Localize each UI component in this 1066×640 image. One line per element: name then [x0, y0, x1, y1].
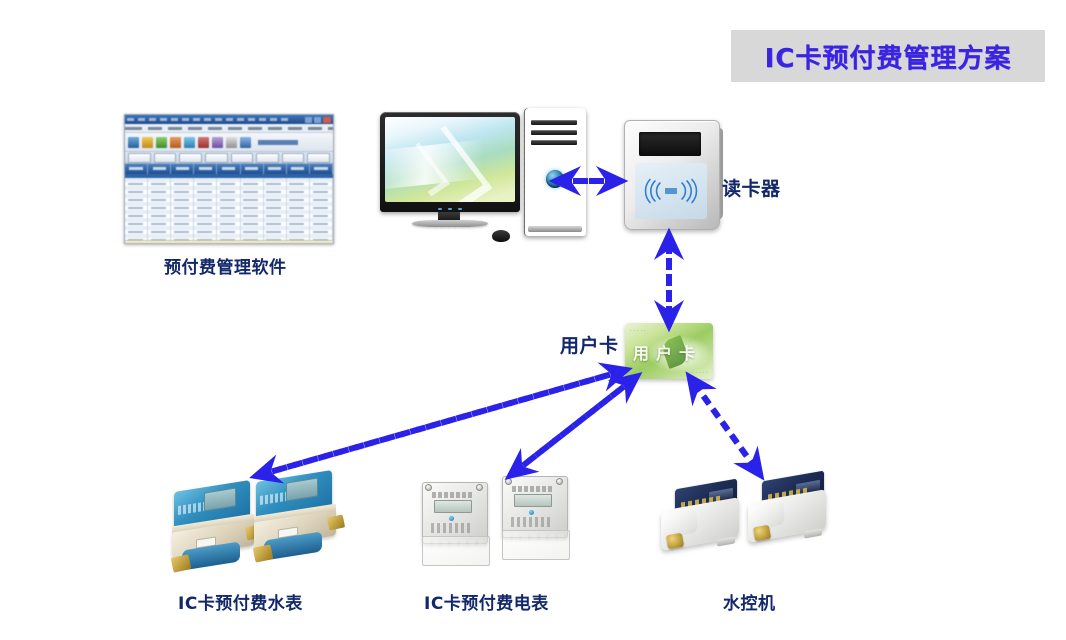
- toolbar-icon-7: [212, 137, 223, 148]
- software-title-text: [127, 118, 289, 121]
- computer-tower: [524, 108, 586, 236]
- water-controller-brass-fitting: [753, 525, 771, 542]
- water-meter-brass-fitting-right: [327, 514, 345, 530]
- card-top-print: · · · · ·: [630, 328, 646, 333]
- user-card-face-text: 用户卡: [633, 340, 702, 364]
- electric-meter-terminal-cover: [422, 536, 490, 566]
- toolbar-icon-2: [142, 137, 153, 148]
- arrow-water-controller-to-card: [694, 383, 756, 469]
- arrow-card-to-electric-meter: [516, 381, 631, 471]
- electric-meter-spec-text: [431, 523, 473, 533]
- water-meter-brass-fitting-left: [253, 544, 274, 562]
- window-controls: [305, 117, 331, 123]
- software-titlebar: [125, 115, 333, 124]
- software-table-header: [125, 164, 333, 174]
- water-controller-foot: [717, 536, 735, 546]
- title-banner: IC卡预付费管理方案: [731, 30, 1045, 82]
- table-column: [264, 174, 287, 240]
- electric-meter-terminal-cover: [502, 530, 570, 560]
- column-header: [125, 164, 148, 174]
- led: [438, 208, 442, 210]
- power-button-icon: [546, 170, 564, 188]
- software-label: 预付费管理软件: [164, 253, 287, 278]
- pulse-led-icon: [449, 516, 454, 521]
- filter-button-2: [154, 153, 177, 163]
- electric-meter-1: [418, 478, 496, 570]
- mount-screw: [556, 478, 563, 485]
- selected-table-row: [125, 174, 333, 178]
- keyboard: [356, 227, 486, 241]
- electric-meter-label: IC卡预付费电表: [424, 589, 549, 614]
- filter-button-5: [231, 153, 254, 163]
- drive-bay: [531, 130, 577, 135]
- arrow-electric-meter-to-card: [516, 381, 631, 471]
- column-header: [264, 164, 287, 174]
- table-column: [287, 174, 310, 240]
- filter-button-7: [282, 153, 305, 163]
- card-reader-device: [624, 120, 720, 230]
- user-card-device: · · · · · 用户卡 · · · · · · ·: [625, 323, 713, 379]
- water-controller-2: [742, 474, 834, 554]
- column-header: [148, 164, 171, 174]
- table-column: [125, 174, 148, 240]
- electric-meter-brand-mark: [432, 492, 472, 498]
- filter-button-8: [307, 153, 330, 163]
- desktop-computer: [352, 108, 602, 248]
- led: [458, 208, 462, 210]
- column-header: [241, 164, 264, 174]
- table-column: [194, 174, 217, 240]
- panel-seam: [530, 152, 578, 153]
- mount-screw: [505, 478, 512, 485]
- card-reader-label: 读卡器: [722, 174, 781, 201]
- table-column: [171, 174, 194, 240]
- water-controller-brass-fitting: [666, 533, 684, 550]
- toolbar-icon-4: [170, 137, 181, 148]
- software-filter-bar: [125, 152, 333, 164]
- water-controller-label: 水控机: [723, 589, 776, 614]
- toolbar-icon-9: [240, 137, 251, 148]
- software-toolbar: [125, 133, 333, 152]
- water-controller-foot: [804, 528, 822, 538]
- electric-meter-display: [434, 500, 472, 513]
- page-title: IC卡预付费管理方案: [765, 38, 1012, 75]
- filter-button-3: [179, 153, 202, 163]
- card-reader-touch-panel: [635, 163, 707, 219]
- toolbar-icon-5: [184, 137, 195, 148]
- table-column: [241, 174, 264, 240]
- column-header: [310, 164, 333, 174]
- electric-meter-display: [514, 494, 552, 507]
- filter-button-4: [205, 153, 228, 163]
- table-column: [310, 174, 333, 240]
- software-table-body: [125, 174, 333, 240]
- software-menubar: [125, 124, 333, 133]
- filter-button-6: [256, 153, 279, 163]
- water-controller-1: [655, 482, 747, 562]
- column-header: [194, 164, 217, 174]
- water-meter-label: IC卡预付费水表: [178, 589, 303, 614]
- arrow-water-meter-to-card: [263, 372, 619, 474]
- pulse-led-icon: [529, 510, 534, 515]
- toolbar-icon-8: [226, 137, 237, 148]
- arrow-card-to-water-controller: [694, 383, 756, 469]
- drive-bay: [531, 140, 577, 145]
- rfid-wave-icon: [638, 178, 704, 204]
- monitor-indicator-leds: [438, 208, 462, 210]
- water-meter-2: [250, 470, 350, 566]
- electric-meter-brand-mark: [512, 486, 552, 492]
- filter-button-1: [128, 153, 151, 163]
- toolbar-icon-1: [128, 137, 139, 148]
- table-column: [217, 174, 240, 240]
- led: [448, 208, 452, 210]
- arrow-card-to-water-meter: [263, 372, 619, 474]
- monitor-stand-base: [412, 220, 488, 227]
- monitor: [380, 112, 520, 212]
- toolbar-icon-3: [156, 137, 167, 148]
- mouse: [492, 230, 510, 242]
- water-meter-brass-fitting-left: [171, 554, 192, 572]
- toolbar-icon-6: [198, 137, 209, 148]
- column-header: [217, 164, 240, 174]
- electric-meter-spec-text: [511, 517, 553, 527]
- electric-meter-2: [498, 472, 576, 564]
- drive-bay: [531, 120, 577, 125]
- column-header: [171, 164, 194, 174]
- user-card-label: 用户卡: [560, 331, 619, 358]
- toolbar-status-text: [258, 140, 298, 145]
- mount-screw: [425, 484, 432, 491]
- tower-base: [528, 226, 582, 232]
- card-reader-display: [639, 132, 701, 156]
- card-reader-body: [624, 120, 720, 230]
- table-columns: [125, 174, 333, 240]
- table-column: [148, 174, 171, 240]
- mount-screw: [476, 484, 483, 491]
- prepaid-software-screenshot: [124, 114, 334, 244]
- card-bottom-print: · · · · · · ·: [685, 370, 708, 375]
- software-input-bar: [125, 240, 333, 244]
- monitor-screen: [385, 117, 515, 202]
- column-header: [287, 164, 310, 174]
